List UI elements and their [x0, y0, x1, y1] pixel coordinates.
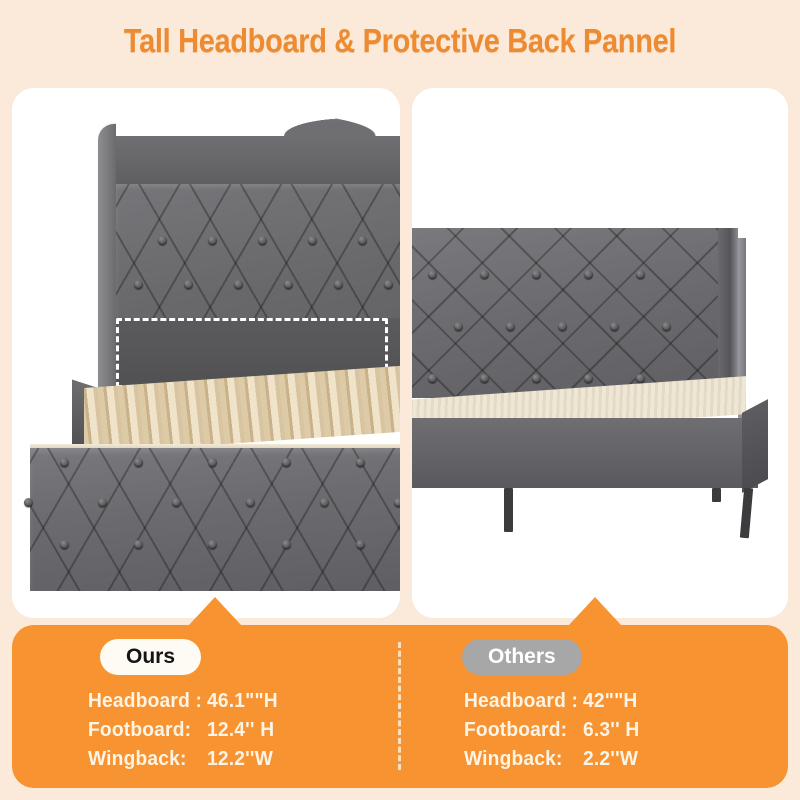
comparison-divider [398, 642, 401, 770]
spec-row: Headboard : 46.1""H [88, 687, 278, 716]
badge-others: Others [462, 639, 582, 675]
spec-value: 2.2''W [583, 745, 638, 774]
arrow-up-ours [189, 597, 241, 625]
page-title: Tall Headboard & Protective Back Pannel [48, 22, 752, 60]
product-photo-card-ours [12, 88, 400, 618]
infographic-root: Tall Headboard & Protective Back Pannel [0, 0, 800, 800]
spec-row: Wingback: 12.2''W [88, 745, 278, 774]
ours-bed-photo [12, 88, 400, 618]
specs-others: Headboard : 42""H Footboard: 6.3'' H Win… [464, 687, 639, 774]
spec-value: 12.2''W [207, 745, 273, 774]
spec-row: Wingback: 2.2''W [464, 745, 639, 774]
spec-row: Headboard : 42""H [464, 687, 639, 716]
spec-row: Footboard: 6.3'' H [464, 716, 639, 745]
spec-label: Headboard : [464, 687, 583, 716]
specs-ours: Headboard : 46.1""H Footboard: 12.4'' H … [88, 687, 278, 774]
headboard-crown-mask [116, 102, 400, 136]
short-tufted-headboard [412, 228, 722, 398]
spec-label: Footboard: [464, 716, 583, 745]
others-bed-photo [412, 88, 788, 618]
spec-value: 6.3'' H [583, 716, 639, 745]
spec-row: Footboard: 12.4'' H [88, 716, 278, 745]
spec-label: Wingback: [464, 745, 583, 774]
side-rail-end [742, 399, 768, 493]
low-side-rail [412, 418, 758, 488]
badge-ours: Ours [100, 639, 201, 675]
spec-value: 42""H [583, 687, 637, 716]
footboard-tufting-buttons [30, 448, 400, 591]
arrow-up-others [569, 597, 621, 625]
spec-label: Wingback: [88, 745, 207, 774]
tall-tufted-footboard [30, 448, 400, 591]
spec-label: Footboard: [88, 716, 207, 745]
others-tufting-buttons [412, 228, 722, 398]
spec-value: 46.1""H [207, 687, 278, 716]
spec-value: 12.4'' H [207, 716, 274, 745]
bed-leg-rear [712, 488, 721, 502]
bed-leg-front-right [740, 488, 753, 539]
spec-label: Headboard : [88, 687, 207, 716]
bed-leg-front-left [504, 488, 513, 532]
product-photo-card-others [412, 88, 788, 618]
